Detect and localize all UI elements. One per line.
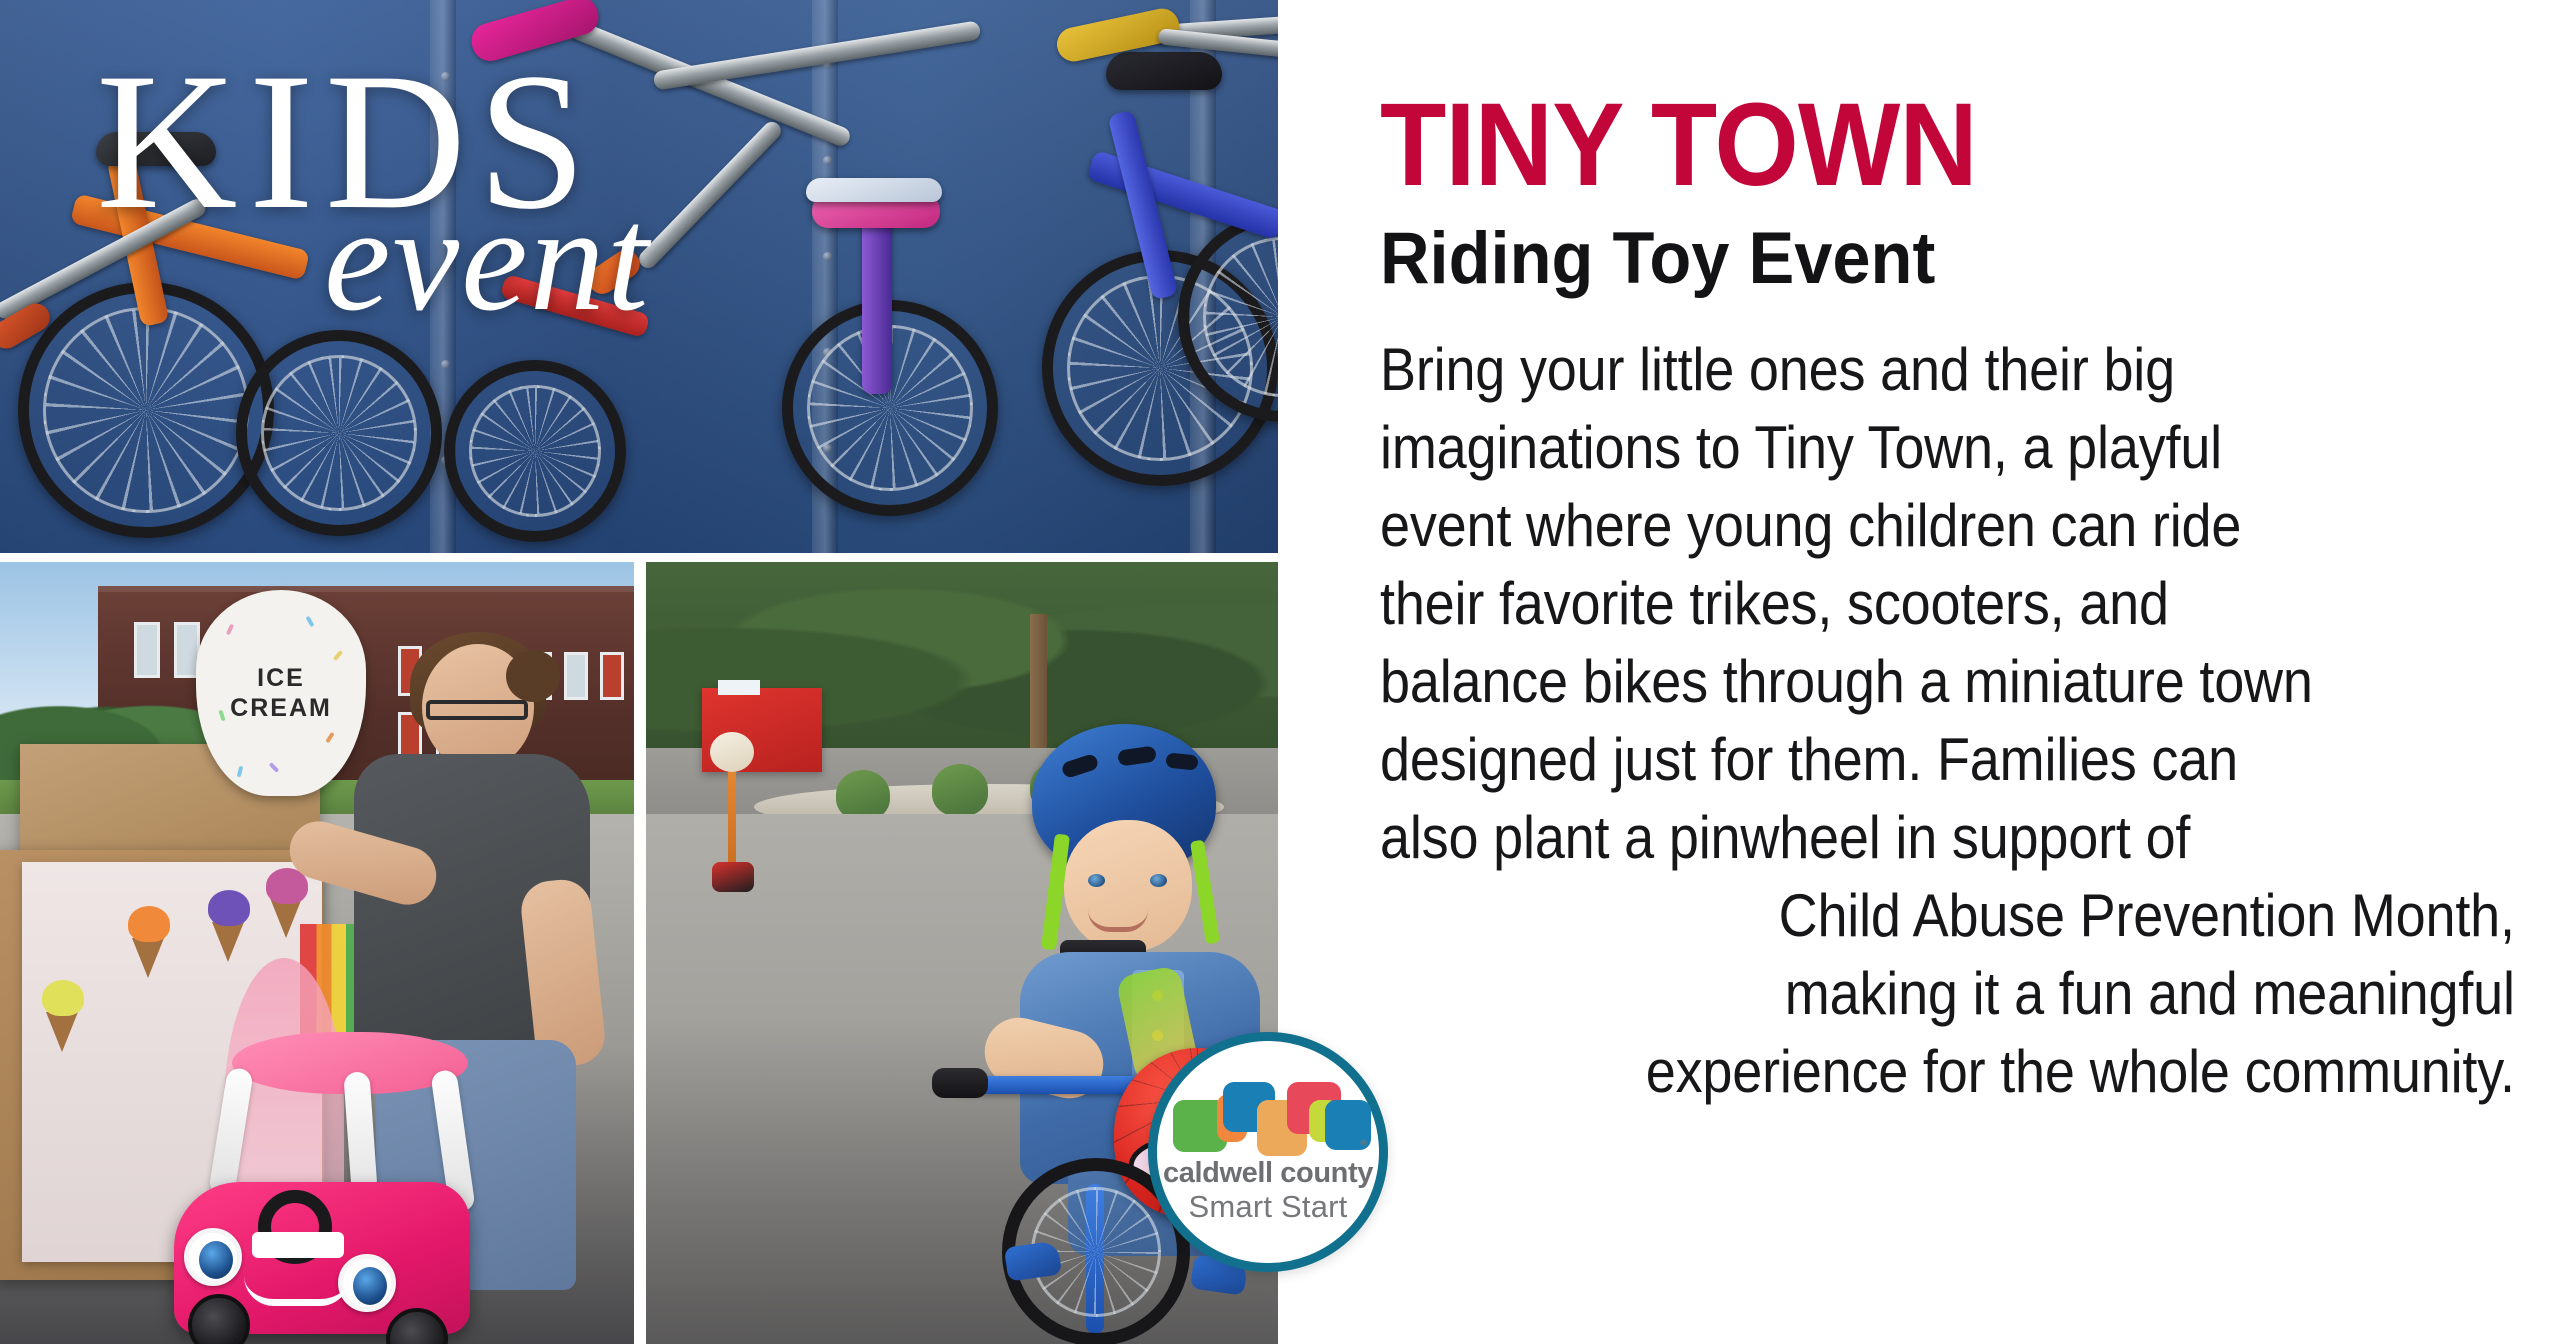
helmet-chin-strap xyxy=(1190,840,1220,945)
bicycle-saddle xyxy=(1106,52,1222,90)
description-line: imaginations to Tiny Town, a playful xyxy=(1380,409,2515,487)
handlebar-grip xyxy=(932,1068,988,1098)
description-line: designed just for them. Families can xyxy=(1380,721,2515,799)
face xyxy=(1064,820,1192,952)
sprinkle xyxy=(269,762,280,773)
text-panel: TINY TOWN Riding Toy Event Bring your li… xyxy=(1278,0,2560,1344)
event-subtitle: Riding Toy Event xyxy=(1380,220,2448,297)
wordmark-event: event xyxy=(324,198,736,321)
logo-text-caldwell-county: caldwell county xyxy=(1163,1158,1373,1189)
helmet-vent xyxy=(1060,753,1099,779)
event-flyer: KIDS event xyxy=(0,0,2560,1344)
pink-cozy-coupe xyxy=(140,1032,470,1344)
eye xyxy=(1150,874,1167,887)
description-line: balance bikes through a miniature town xyxy=(1380,643,2515,721)
pinwheel-base xyxy=(712,862,754,892)
eyeglasses xyxy=(426,700,528,720)
event-description: Bring your little ones and their big ima… xyxy=(1380,331,2515,1111)
registered-trademark-mark: ® xyxy=(1360,1138,1367,1148)
paper-cone xyxy=(212,922,244,962)
coupe-headlight-eye xyxy=(184,1228,242,1286)
shrub xyxy=(836,770,890,820)
logo-square-cluster: ® xyxy=(1173,1080,1363,1152)
description-line: also plant a pinwheel in support of xyxy=(1380,799,2515,877)
cart-sign xyxy=(718,680,760,695)
helmet-vent xyxy=(1165,752,1198,770)
eye xyxy=(1088,874,1105,887)
description-line: Bring your little ones and their big xyxy=(1380,331,2515,409)
sign-line-1: ICE xyxy=(257,664,305,692)
caldwell-county-smart-start-logo: ® caldwell county Smart Start xyxy=(1148,1032,1388,1272)
bicycle-frame xyxy=(862,214,892,394)
description-line: making it a fun and meaningful xyxy=(1380,955,2515,1033)
paper-scoop xyxy=(128,906,170,942)
helmet-vent xyxy=(1117,745,1157,766)
tricycle-wheel xyxy=(236,330,442,536)
paper-scoop xyxy=(208,890,250,926)
brand-badge xyxy=(252,1232,344,1258)
description-line: their favorite trikes, scooters, and xyxy=(1380,565,2515,643)
sprinkle xyxy=(226,624,234,636)
building-window xyxy=(134,622,160,678)
photo-bikes-against-blue-wall: KIDS event xyxy=(0,0,1278,553)
wall-rivet xyxy=(823,156,832,165)
event-title: TINY TOWN xyxy=(1380,88,2425,204)
logo-text-smart-start: Smart Start xyxy=(1189,1190,1348,1224)
paper-cone xyxy=(132,938,164,978)
description-line: event where young children can ride xyxy=(1380,487,2515,565)
building-window xyxy=(600,652,624,700)
coupe-pillar xyxy=(208,1067,254,1197)
kids-event-wordmark: KIDS event xyxy=(96,52,736,321)
sprinkle xyxy=(306,616,315,628)
bicycle-wheel xyxy=(444,360,626,542)
hair-bun xyxy=(506,650,560,702)
wall-rivet xyxy=(823,252,832,261)
description-line: experience for the whole community. xyxy=(1380,1033,2515,1111)
wall-rivet xyxy=(441,360,450,369)
bicycle-saddle xyxy=(806,178,942,202)
pinwheel xyxy=(710,732,754,772)
sprinkle xyxy=(237,766,244,778)
description-line: Child Abuse Prevention Month, xyxy=(1380,877,2515,955)
photo-collage: KIDS event xyxy=(0,0,1278,1344)
coupe-smile xyxy=(244,1276,350,1306)
sign-line-2: CREAM xyxy=(230,694,332,722)
photo-cardboard-ice-cream-shop: ICE CREAM xyxy=(0,562,634,1344)
paper-cone xyxy=(270,898,302,938)
paper-scoop xyxy=(42,980,84,1016)
paper-cone xyxy=(46,1012,78,1052)
